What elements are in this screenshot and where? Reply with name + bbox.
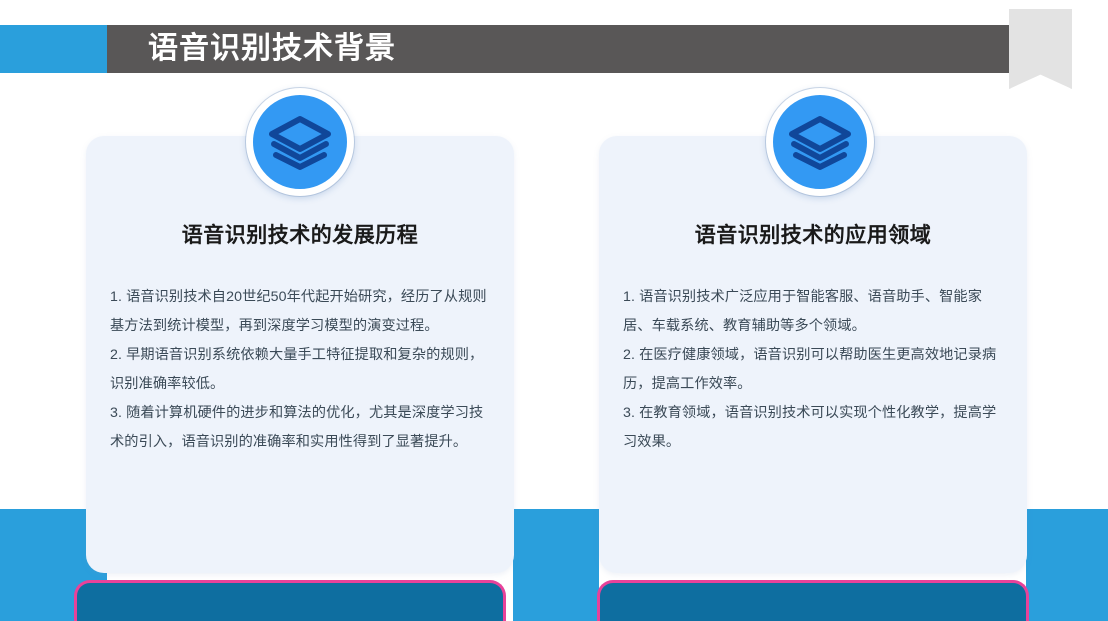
- content-card-right: 语音识别技术的应用领域 1. 语音识别技术广泛应用于智能客服、语音助手、智能家居…: [599, 136, 1027, 573]
- page-title: 语音识别技术背景: [148, 25, 396, 73]
- decorative-band-middle: [513, 509, 599, 621]
- bottom-panel-right: [597, 580, 1029, 621]
- layers-icon: [788, 113, 852, 171]
- card-paragraph: 1. 语音识别技术自20世纪50年代起开始研究，经历了从规则基方法到统计模型，再…: [110, 283, 496, 341]
- card-paragraph: 3. 随着计算机硬件的进步和算法的优化，尤其是深度学习技术的引入，语音识别的准确…: [110, 399, 496, 457]
- card-body-right: 1. 语音识别技术广泛应用于智能客服、语音助手、智能家居、车载系统、教育辅助等多…: [623, 283, 1009, 457]
- card-title-left: 语音识别技术的发展历程: [86, 219, 514, 249]
- card-paragraph: 1. 语音识别技术广泛应用于智能客服、语音助手、智能家居、车载系统、教育辅助等多…: [623, 283, 1009, 341]
- slide-root: 语音识别技术背景 语音识别技术的发展历程 1. 语音识别技术自20世纪50年代起…: [0, 0, 1108, 621]
- card-paragraph: 3. 在教育领域，语音识别技术可以实现个性化教学，提高学习效果。: [623, 399, 1009, 457]
- bookmark-ribbon-icon: [1009, 9, 1072, 89]
- layers-icon: [268, 113, 332, 171]
- bottom-panel-left: [74, 580, 506, 621]
- card-paragraph: 2. 早期语音识别系统依赖大量手工特征提取和复杂的规则，识别准确率较低。: [110, 341, 496, 399]
- layers-icon-badge-right: [766, 88, 874, 196]
- card-body-left: 1. 语音识别技术自20世纪50年代起开始研究，经历了从规则基方法到统计模型，再…: [110, 283, 496, 457]
- layers-icon-badge-left: [246, 88, 354, 196]
- card-paragraph: 2. 在医疗健康领域，语音识别可以帮助医生更高效地记录病历，提高工作效率。: [623, 341, 1009, 399]
- decorative-band-right: [1026, 509, 1108, 621]
- card-title-right: 语音识别技术的应用领域: [599, 219, 1027, 249]
- header-accent-block: [0, 25, 107, 73]
- content-card-left: 语音识别技术的发展历程 1. 语音识别技术自20世纪50年代起开始研究，经历了从…: [86, 136, 514, 573]
